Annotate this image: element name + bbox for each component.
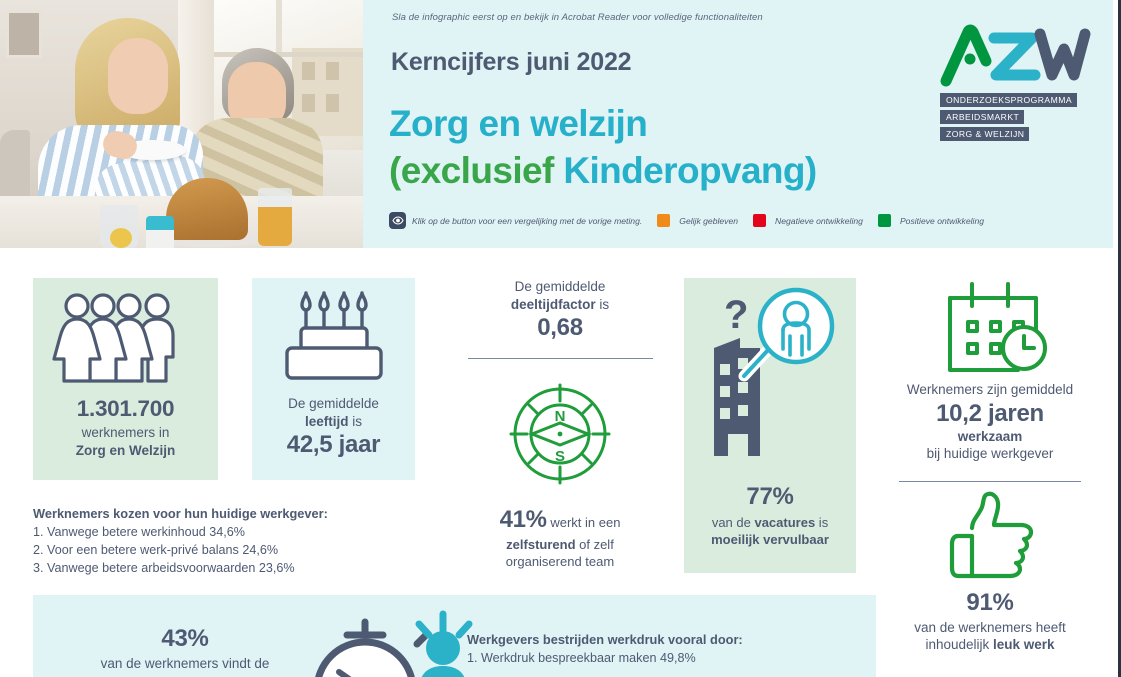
workpressure-line1: van de werknemers vindt de bbox=[60, 655, 310, 673]
legend-instruction: Klik op de button voor een vergelijking … bbox=[412, 216, 642, 226]
tenure-line1: Werknemers zijn gemiddeld bbox=[890, 381, 1090, 399]
age-label-bold: leeftijd bbox=[305, 414, 349, 429]
photo-picture-frame bbox=[6, 10, 42, 58]
thumbs-up-icon bbox=[944, 492, 1036, 578]
card-employees: 1.301.700 werknemers in Zorg en Welzijn bbox=[33, 278, 218, 480]
selfdirecting-line3: organiserend team bbox=[450, 553, 670, 570]
list-workpressure-measures: Werkgevers bestrijden werkdruk vooral do… bbox=[467, 632, 743, 668]
page-title-kinderopvang: Kinderopvang) bbox=[554, 150, 817, 191]
photo-bottle bbox=[146, 228, 174, 248]
column-parttime-selfdirecting: De gemiddelde deeltijdfactor is 0,68 N S… bbox=[450, 278, 670, 570]
card-vacancies: ? 77% van de vacatures is moeilijk vervu… bbox=[684, 278, 856, 573]
funwork-line1: van de werknemers heeft bbox=[890, 619, 1090, 637]
list-item: 1. Vanwege betere werkinhoud 34,6% bbox=[33, 524, 328, 542]
column3-divider bbox=[468, 358, 653, 359]
workpressure-measures-heading: Werkgevers bestrijden werkdruk vooral do… bbox=[467, 632, 743, 647]
age-label-rest: is bbox=[349, 414, 363, 429]
azw-bar-zorg-welzijn: ZORG & WELZIJN bbox=[940, 127, 1029, 141]
list-item: 2. Voor een betere werk-privé balans 24,… bbox=[33, 542, 328, 560]
funwork-line2-rest: inhoudelijk bbox=[925, 637, 993, 652]
svg-text:N: N bbox=[555, 408, 566, 425]
page-kicker: Kerncijfers juni 2022 bbox=[391, 48, 631, 77]
photo-bottle-cap bbox=[146, 216, 174, 230]
azw-logo-bars: ONDERZOEKSPROGRAMMA ARBEIDSMARKT ZORG & … bbox=[940, 93, 1090, 141]
eye-icon[interactable] bbox=[389, 212, 406, 229]
calendar-clock-icon bbox=[936, 278, 1054, 370]
building-search-icon: ? bbox=[696, 288, 846, 468]
infographic-page: Sla de infographic eerst op en bekijk in… bbox=[0, 0, 1121, 677]
age-value: 42,5 jaar bbox=[252, 431, 415, 459]
legend-bar: Klik op de button voor een vergelijking … bbox=[389, 212, 984, 229]
vacancies-line1-b: is bbox=[815, 515, 828, 530]
column5-divider bbox=[899, 481, 1081, 482]
employees-line1: werknemers in bbox=[33, 424, 218, 442]
legend-swatch-positive bbox=[878, 214, 891, 227]
funwork-value: 91% bbox=[890, 589, 1090, 617]
photo-juice bbox=[258, 207, 292, 246]
selfdirecting-line2-bold: zelfsturend bbox=[506, 537, 575, 552]
list-employer-choice: Werknemers kozen voor hun huidige werkge… bbox=[33, 506, 328, 578]
employees-line2: Zorg en Welzijn bbox=[33, 442, 218, 460]
header-photo bbox=[0, 0, 363, 248]
azw-logo: ONDERZOEKSPROGRAMMA ARBEIDSMARKT ZORG & … bbox=[940, 27, 1090, 141]
photo-lemon bbox=[110, 228, 132, 248]
stopwatch-person-icon bbox=[285, 600, 495, 677]
selfdirecting-value: 41% bbox=[500, 506, 547, 533]
legend-label-positive: Positieve ontwikkeling bbox=[900, 216, 984, 226]
page-title: Zorg en welzijn (exclusief Kinderopvang) bbox=[389, 101, 817, 195]
compass-icon: N S bbox=[507, 381, 613, 487]
page-title-exclusief: (exclusief bbox=[389, 150, 554, 191]
employer-choice-heading: Werknemers kozen voor hun huidige werkge… bbox=[33, 506, 328, 521]
parttime-label-bold: deeltijdfactor bbox=[511, 297, 596, 312]
list-item: 3. Vanwege betere arbeidsvoorwaarden 23,… bbox=[33, 560, 328, 578]
selfdirecting-line1-rest: werkt in een bbox=[547, 515, 621, 530]
people-group-icon bbox=[51, 292, 201, 384]
tenure-line3: bij huidige werkgever bbox=[890, 445, 1090, 463]
azw-bar-arbeidsmarkt: ARBEIDSMARKT bbox=[940, 110, 1024, 124]
photo-caregiver-face bbox=[108, 38, 168, 114]
svg-text:?: ? bbox=[724, 293, 748, 337]
employees-value: 1.301.700 bbox=[33, 396, 218, 422]
header-band: Sla de infographic eerst op en bekijk in… bbox=[0, 0, 1113, 248]
tenure-value: 10,2 jaren bbox=[890, 400, 1090, 428]
legend-swatch-negative bbox=[753, 214, 766, 227]
legend-swatch-neutral bbox=[657, 214, 670, 227]
vacancies-line2: moeilijk vervulbaar bbox=[684, 531, 856, 548]
azw-bar-onderzoeksprogramma: ONDERZOEKSPROGRAMMA bbox=[940, 93, 1077, 107]
vacancies-line1-bold: vacatures bbox=[754, 515, 815, 530]
svg-text:S: S bbox=[555, 448, 565, 465]
azw-logo-mark bbox=[940, 27, 1088, 83]
selfdirecting-line2-rest: of zelf bbox=[576, 537, 614, 552]
vacancies-value: 77% bbox=[684, 483, 856, 511]
legend-label-negative: Negatieve ontwikkeling bbox=[775, 216, 863, 226]
column-tenure-funwork: Werknemers zijn gemiddeld 10,2 jaren wer… bbox=[890, 278, 1090, 654]
age-line1: De gemiddelde bbox=[252, 395, 415, 413]
parttime-line1: De gemiddelde bbox=[450, 278, 670, 296]
legend-label-neutral: Gelijk gebleven bbox=[679, 216, 738, 226]
save-instruction-note: Sla de infographic eerst op en bekijk in… bbox=[392, 12, 763, 23]
page-title-line1: Zorg en welzijn bbox=[389, 103, 647, 144]
card-average-age: De gemiddelde leeftijd is 42,5 jaar bbox=[252, 278, 415, 480]
parttime-label-rest: is bbox=[596, 297, 610, 312]
workpressure-value: 43% bbox=[60, 625, 310, 653]
vacancies-line1-a: van de bbox=[712, 515, 755, 530]
list-item: 1. Werkdruk bespreekbaar maken 49,8% bbox=[467, 650, 743, 668]
parttime-value: 0,68 bbox=[450, 314, 670, 342]
tenure-line2: werkzaam bbox=[890, 428, 1090, 446]
workpressure-stat: 43% van de werknemers vindt de bbox=[60, 625, 310, 673]
funwork-line2-bold: leuk werk bbox=[993, 637, 1055, 652]
birthday-cake-icon bbox=[280, 288, 388, 382]
